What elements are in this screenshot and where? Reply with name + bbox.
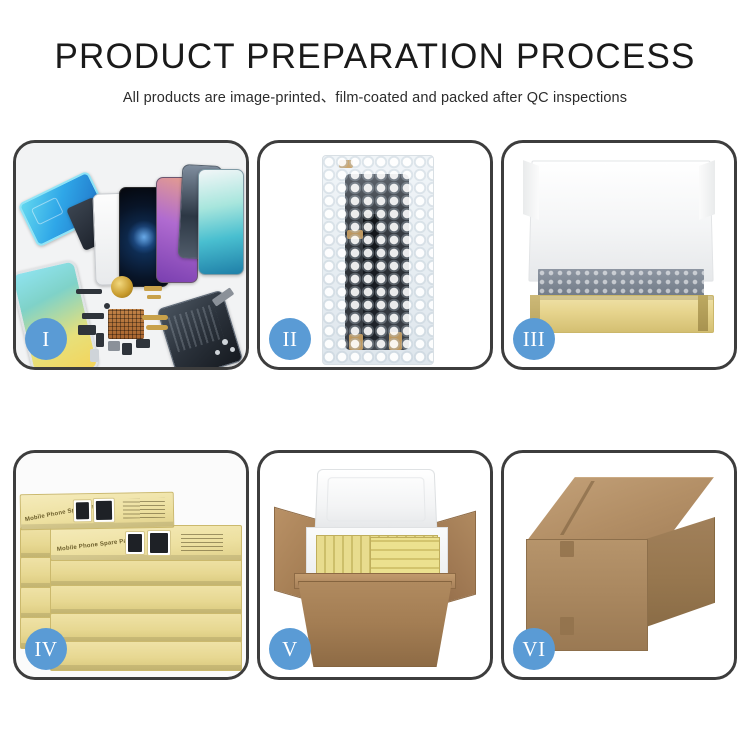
step-image-4: Mobile Phone Spare Parts Mobile Phone Sp…: [16, 453, 246, 677]
small-part: [147, 295, 161, 299]
screw: [215, 350, 220, 355]
screw: [222, 339, 228, 345]
step-panel-3: III: [501, 140, 737, 370]
step-panel-5: V: [257, 450, 493, 680]
small-part: [82, 313, 104, 319]
small-part: [96, 333, 104, 347]
small-part: [136, 339, 150, 348]
process-steps-grid: I II: [13, 140, 737, 680]
small-part: [90, 349, 99, 362]
stacked-box: [50, 613, 242, 643]
box-artwork-screen: [125, 531, 145, 555]
foam-cooler-lid: [315, 469, 438, 532]
product-preparation-infographic: PRODUCT PREPARATION PROCESS All products…: [0, 0, 750, 750]
step-badge-3: III: [513, 318, 555, 360]
inner-box-lid: [528, 161, 713, 282]
bubble-wrap-package: [322, 155, 434, 365]
tape-label-lower: [560, 617, 574, 635]
step-panel-1: I: [13, 140, 249, 370]
stacked-box-top: Mobile Phone Spare Parts: [50, 525, 242, 561]
flex-cable: [146, 325, 168, 330]
box-side-right: [698, 295, 708, 331]
step-panel-2: II: [257, 140, 493, 370]
page-subtitle: All products are image-printed、film-coat…: [0, 86, 750, 107]
page-title: PRODUCT PREPARATION PROCESS: [0, 38, 750, 77]
box-spec-lines: [181, 531, 223, 551]
screw: [230, 347, 235, 352]
box-spec-lines: [123, 498, 165, 519]
step-badge-2: II: [269, 318, 311, 360]
tape-label-upper: [560, 541, 574, 557]
box-artwork-screen: [73, 499, 92, 522]
box-artwork-screen: [147, 530, 171, 556]
packed-yellow-boxes: [370, 537, 440, 577]
step-image-1: I: [16, 143, 246, 367]
stacked-box: [50, 557, 242, 587]
box-label-text: Mobile Phone Spare Parts: [57, 537, 136, 553]
step-image-3: III: [504, 143, 734, 367]
flex-cable: [142, 315, 168, 320]
header: PRODUCT PREPARATION PROCESS All products…: [0, 38, 750, 107]
speaker-component: [111, 276, 133, 298]
box-flap-left: [523, 160, 539, 220]
step-badge-4: IV: [25, 628, 67, 670]
small-part: [122, 343, 132, 355]
small-part: [78, 325, 96, 335]
step-panel-6: VI: [501, 450, 737, 680]
logic-board-component: [108, 309, 144, 339]
stacked-box: [50, 585, 242, 615]
step-image-6: VI: [504, 453, 734, 677]
phone-screen-teal: [198, 169, 244, 275]
step-badge-1: I: [25, 318, 67, 360]
box-flap-right: [699, 160, 715, 220]
step-badge-5: V: [269, 628, 311, 670]
small-part: [108, 341, 120, 351]
carton-body: [298, 581, 452, 667]
bubble-texture: [323, 156, 433, 364]
box-artwork-screen: [93, 498, 115, 523]
step-badge-6: VI: [513, 628, 555, 670]
step-image-2: II: [260, 143, 490, 367]
stacked-box-top-rear: Mobile Phone Spare Parts: [20, 492, 175, 531]
inner-box-base: [530, 295, 714, 333]
small-part: [76, 289, 102, 294]
stacked-box: [50, 641, 242, 671]
small-part: [104, 303, 110, 309]
small-part: [144, 286, 162, 291]
step-image-5: V: [260, 453, 490, 677]
step-panel-4: Mobile Phone Spare Parts Mobile Phone Sp…: [13, 450, 249, 680]
